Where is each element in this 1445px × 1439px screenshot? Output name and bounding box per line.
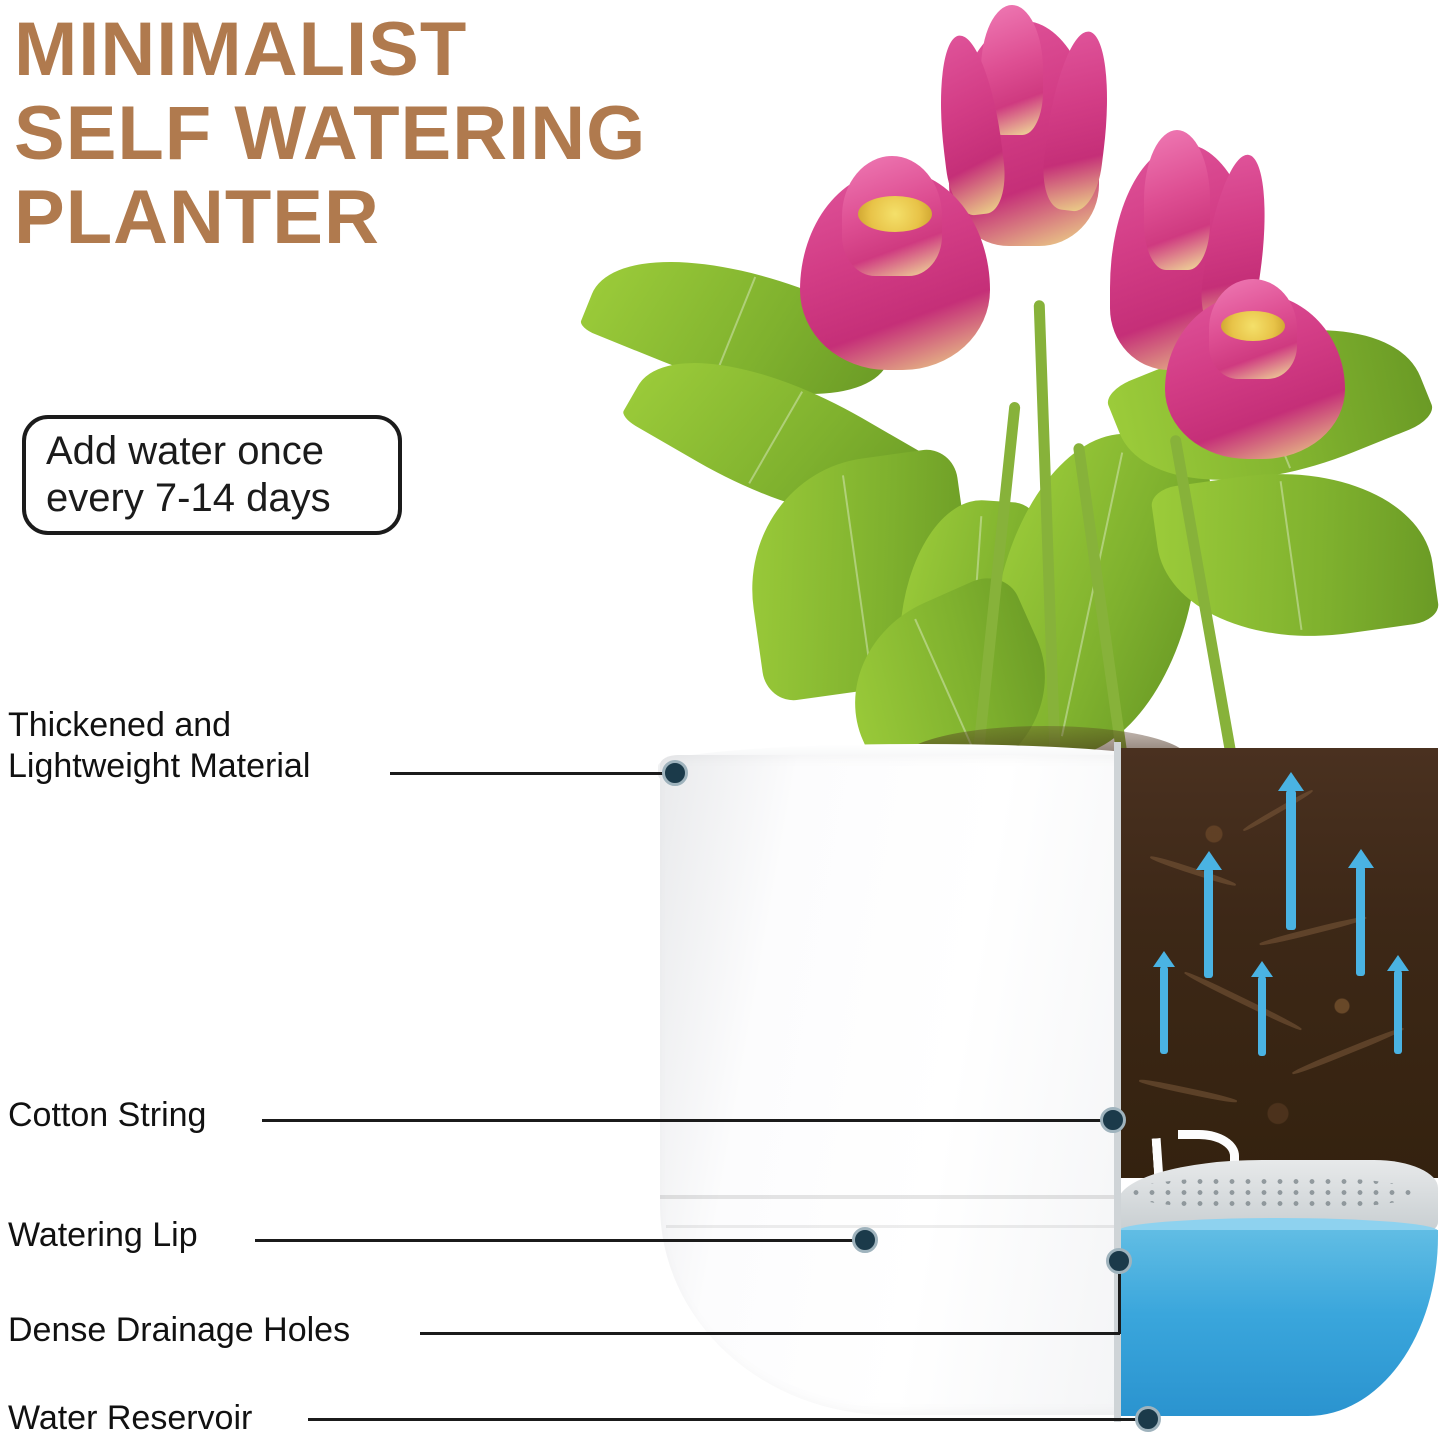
water-flow-arrow-head [1348,849,1374,868]
water-reservoir [1118,1230,1438,1416]
water-flow-arrow-head [1251,961,1273,977]
watering-frequency-text: Add water once every 7-14 days [26,428,331,522]
callout-label-lip: Watering Lip [8,1215,198,1256]
water-flow-arrow-head [1387,955,1409,971]
leader-line-cotton [262,1119,1112,1122]
leader-line-reservoir [308,1418,1148,1421]
water-flow-arrow [1286,790,1296,930]
water-flow-arrow [1204,868,1213,978]
water-flow-arrow [1394,970,1402,1054]
pot-cutaway-section [1118,748,1438,1416]
callout-label-reservoir: Water Reservoir [8,1398,252,1439]
water-flow-arrow-head [1153,951,1175,967]
callout-label-cotton: Cotton String [8,1095,206,1136]
product-illustration [600,0,1445,1430]
callout-dot-reservoir [1135,1406,1161,1432]
tulip-flower [790,150,1000,380]
leader-line-lip [255,1239,865,1242]
leader-line-drainage [420,1332,1120,1335]
watering-frequency-badge: Add water once every 7-14 days [22,415,402,535]
water-flow-arrow [1160,966,1168,1054]
dense-drainage-holes [1128,1176,1418,1210]
soil-layer [1118,748,1438,1178]
callout-dot-lip [852,1227,878,1253]
callout-dot-drainage [1106,1248,1132,1274]
callout-dot-cotton [1100,1107,1126,1133]
callout-dot-material [662,760,688,786]
leader-line-material [390,772,675,775]
callout-label-drainage: Dense Drainage Holes [8,1310,350,1351]
pot-outer-body [660,755,1180,1415]
callout-label-material: Thickened and Lightweight Material [8,705,408,787]
tulip-flower [1155,275,1355,465]
water-flow-arrow [1258,976,1266,1056]
diagram-canvas: MINIMALIST SELF WATERING PLANTER Add wat… [0,0,1445,1430]
water-flow-arrow-head [1278,772,1304,791]
water-flow-arrow [1356,866,1365,976]
water-flow-arrow-head [1196,851,1222,870]
